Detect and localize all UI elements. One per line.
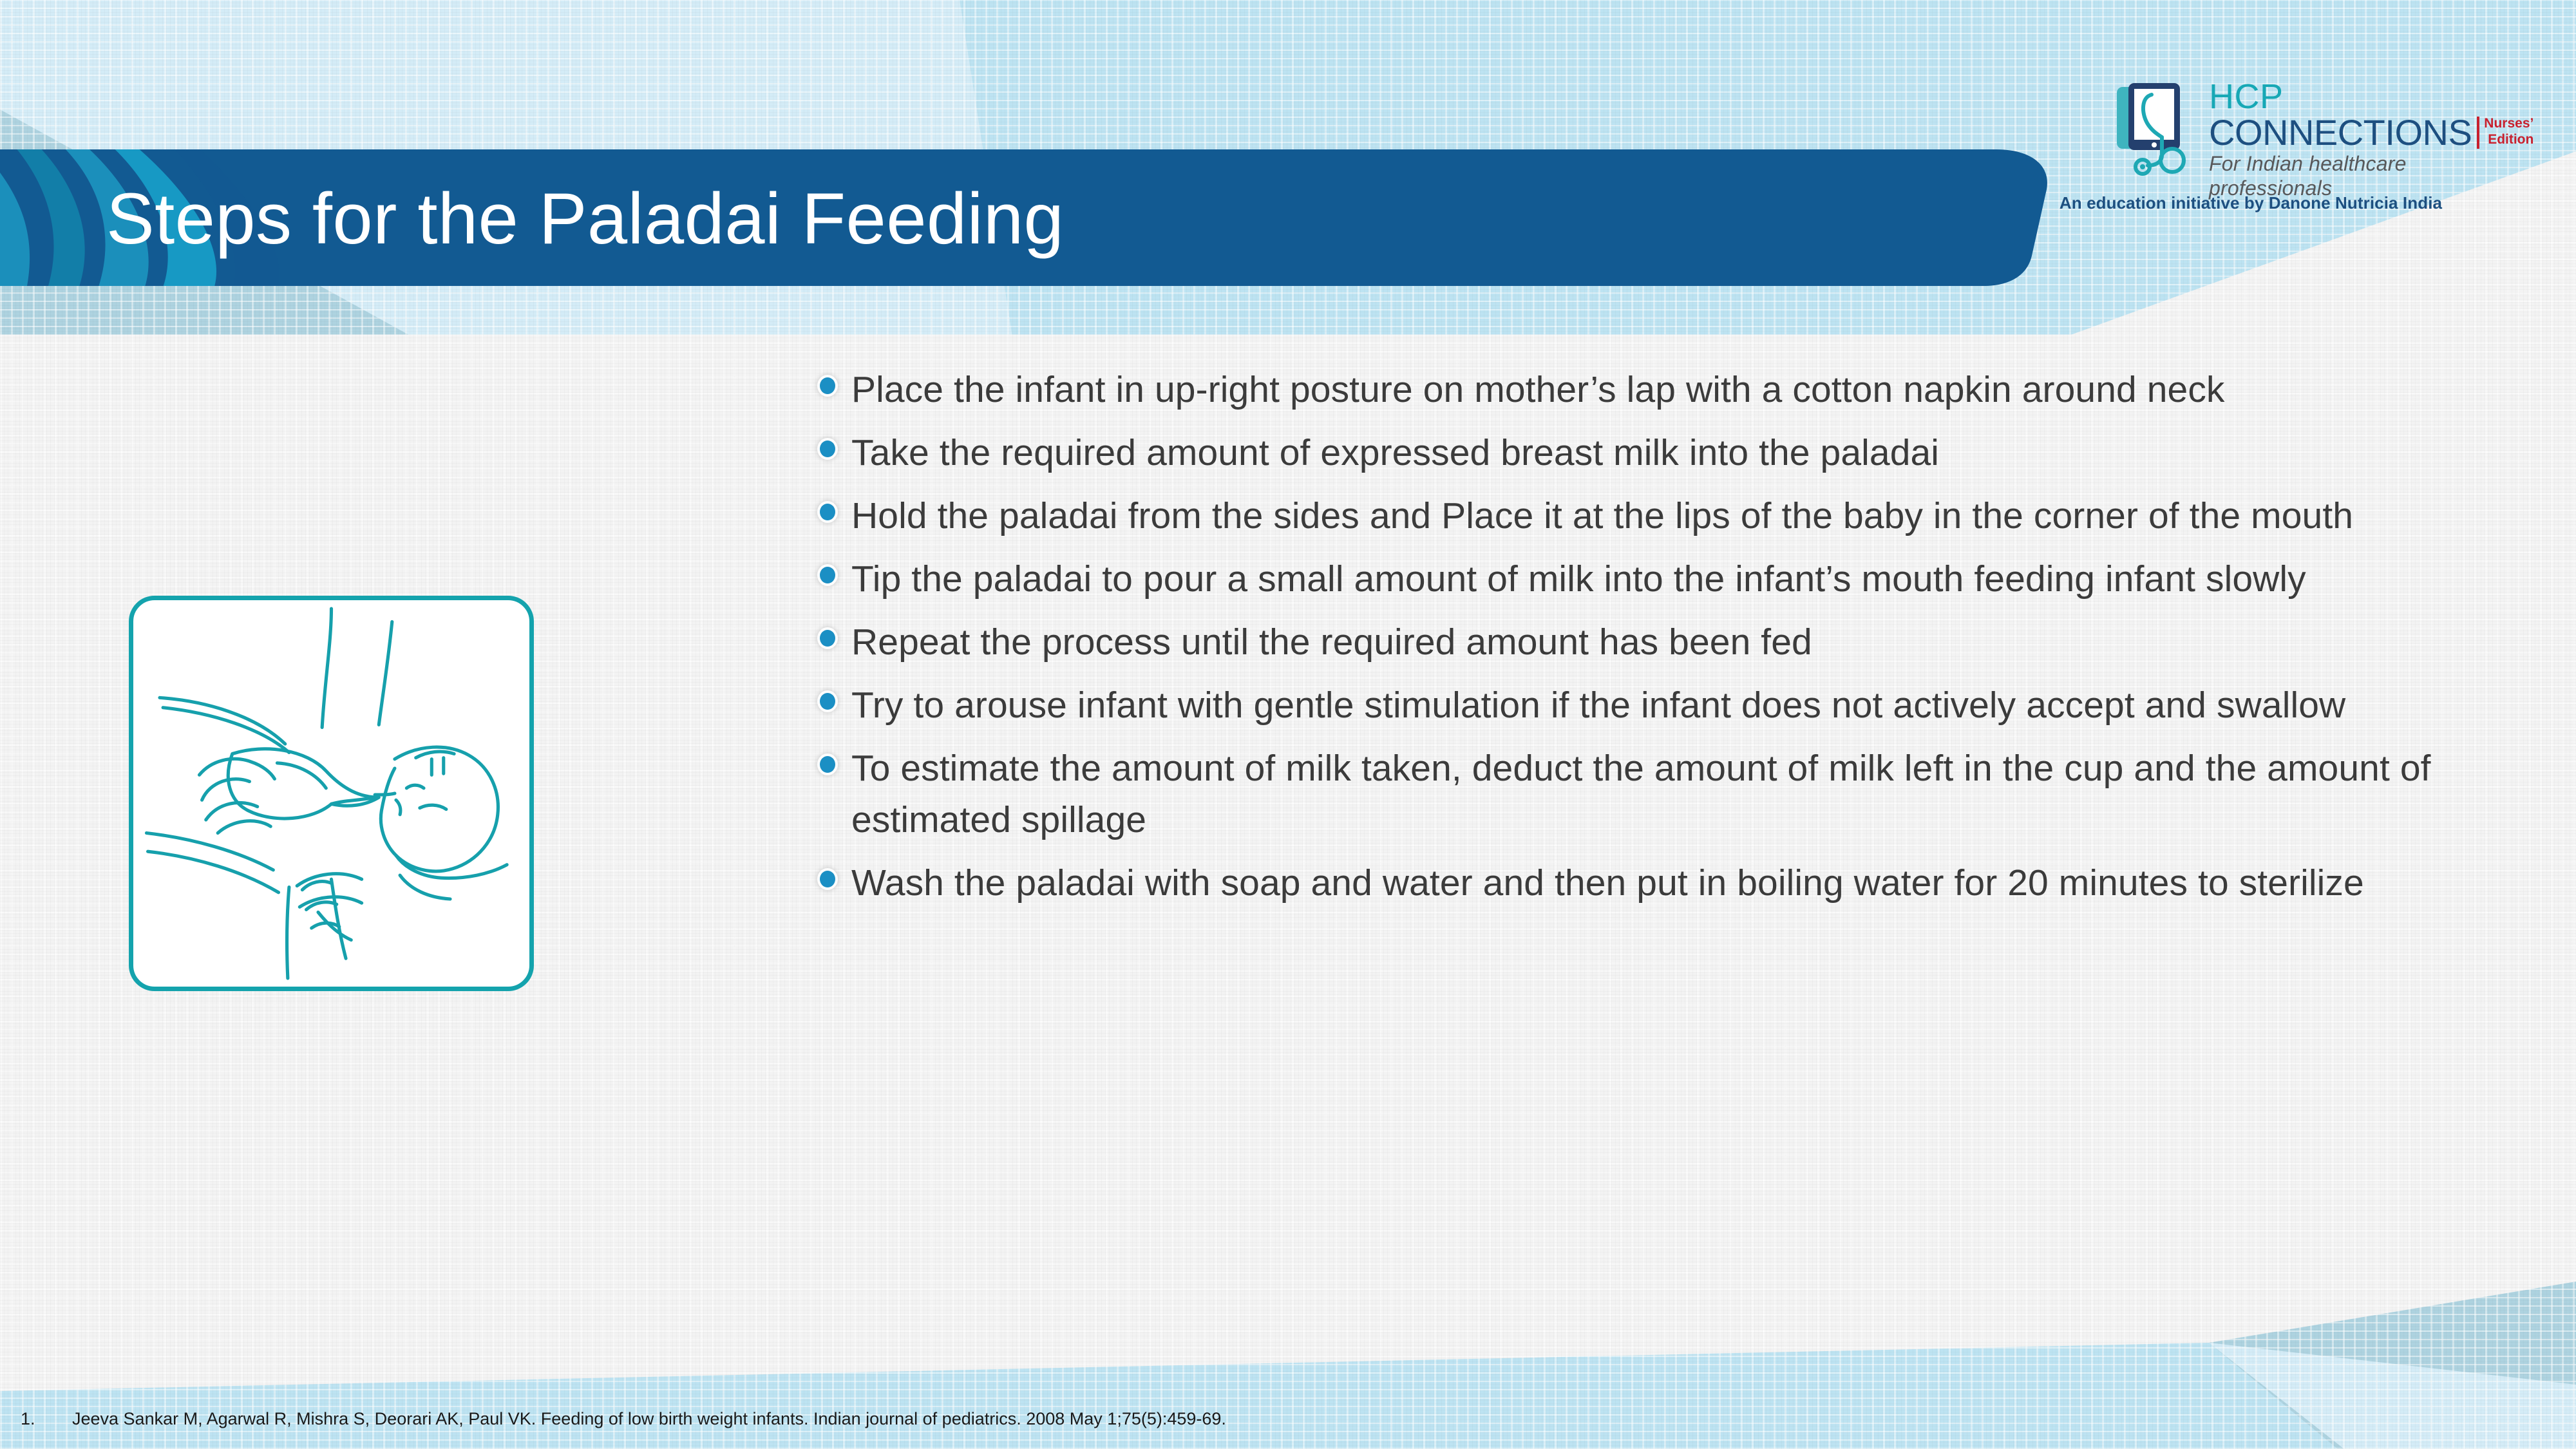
logo-subline: An education initiative by Danone Nutric… bbox=[2025, 193, 2476, 213]
list-item: Hold the paladai from the sides and Plac… bbox=[818, 490, 2550, 542]
bullet-text: Place the infant in up-right posture on … bbox=[851, 364, 2225, 415]
list-item: Take the required amount of expressed br… bbox=[818, 427, 2550, 478]
bullet-text: To estimate the amount of milk taken, de… bbox=[851, 743, 2550, 846]
footnote-reference: 1. Jeeva Sankar M, Agarwal R, Mishra S, … bbox=[21, 1408, 1226, 1430]
tablet-stethoscope-icon bbox=[2116, 83, 2201, 181]
footnote-text: Jeeva Sankar M, Agarwal R, Mishra S, Deo… bbox=[72, 1408, 1226, 1430]
bullet-point-icon bbox=[818, 500, 837, 524]
brand-logo: HCP CONNECTIONS Nurses’ Edition For Indi… bbox=[2116, 80, 2515, 203]
list-item: Try to arouse infant with gentle stimula… bbox=[818, 679, 2550, 731]
logo-connections-text: CONNECTIONS bbox=[2209, 115, 2472, 150]
logo-edition-block: Nurses’ Edition bbox=[2484, 115, 2533, 147]
list-item: Repeat the process until the required am… bbox=[818, 616, 2550, 668]
list-item: To estimate the amount of milk taken, de… bbox=[818, 743, 2550, 846]
logo-hcp-text: HCP bbox=[2209, 80, 2518, 113]
bullet-point-icon bbox=[818, 627, 837, 650]
bullet-point-icon bbox=[818, 690, 837, 713]
bullet-text: Tip the paladai to pour a small amount o… bbox=[851, 553, 2306, 605]
paladai-feeding-illustration bbox=[129, 596, 534, 991]
bullet-point-icon bbox=[818, 374, 837, 397]
page-title: Steps for the Paladai Feeding bbox=[106, 161, 1974, 277]
bullet-point-icon bbox=[818, 753, 837, 776]
slide-canvas: Steps for the Paladai Feeding HCP CONNEC… bbox=[0, 0, 2576, 1449]
bullet-point-icon bbox=[818, 437, 837, 460]
logo-connections-row: CONNECTIONS Nurses’ Edition bbox=[2209, 115, 2518, 150]
bullet-text: Repeat the process until the required am… bbox=[851, 616, 1812, 668]
list-item: Place the infant in up-right posture on … bbox=[818, 364, 2550, 415]
bullet-point-icon bbox=[818, 563, 837, 587]
logo-divider bbox=[2477, 117, 2479, 149]
bullet-text: Wash the paladai with soap and water and… bbox=[851, 857, 2364, 909]
bullet-list: Place the infant in up-right posture on … bbox=[818, 364, 2550, 920]
logo-edition-line1: Nurses’ bbox=[2484, 115, 2533, 131]
list-item: Tip the paladai to pour a small amount o… bbox=[818, 553, 2550, 605]
logo-edition-line2: Edition bbox=[2484, 131, 2533, 147]
bullet-text: Hold the paladai from the sides and Plac… bbox=[851, 490, 2353, 542]
logo-wordmark: HCP CONNECTIONS Nurses’ Edition For Indi… bbox=[2209, 80, 2518, 200]
list-item: Wash the paladai with soap and water and… bbox=[818, 857, 2550, 909]
bullet-text: Try to arouse infant with gentle stimula… bbox=[851, 679, 2345, 731]
bullet-point-icon bbox=[818, 867, 837, 891]
footnote-number: 1. bbox=[21, 1408, 72, 1430]
bullet-text: Take the required amount of expressed br… bbox=[851, 427, 1939, 478]
